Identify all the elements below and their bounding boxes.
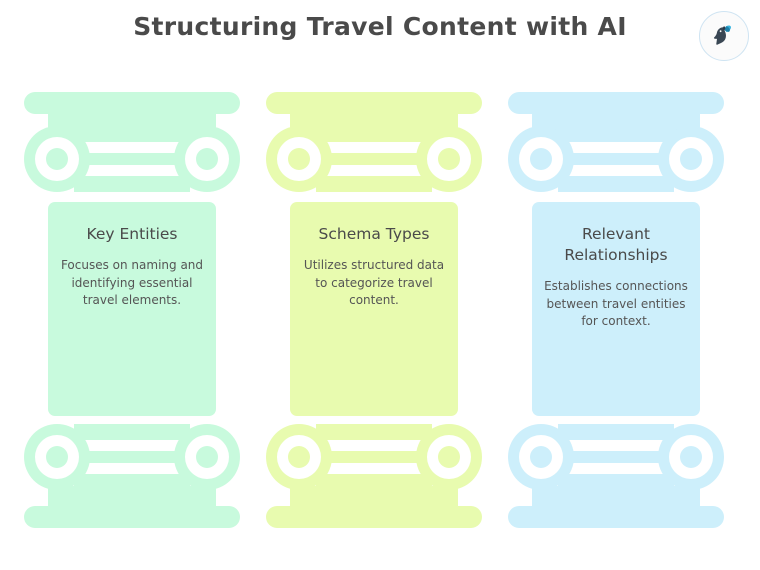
pillar-columns: Key Entities Focuses on naming and ident… [0, 0, 760, 570]
capital-bar [80, 451, 184, 463]
ring-dot [438, 446, 460, 468]
capital-ring-right [658, 126, 724, 192]
column-bottom-bar [24, 506, 240, 528]
column-top-bar [266, 92, 482, 114]
column-title: Key Entities [58, 224, 206, 245]
capital-ring-right [416, 126, 482, 192]
column-top-capital [24, 126, 240, 198]
ring-dot [680, 446, 702, 468]
capital-bar [80, 153, 184, 165]
column-top-capital [266, 126, 482, 198]
capital-ring-left [508, 424, 574, 490]
pillar-column-key-entities[interactable]: Key Entities Focuses on naming and ident… [24, 92, 240, 528]
pillar-column-relevant-relationships[interactable]: Relevant Relationships Establishes conne… [508, 92, 724, 528]
ring-dot [288, 148, 310, 170]
column-description: Focuses on naming and identifying essent… [58, 257, 206, 310]
ring-dot [46, 446, 68, 468]
column-body-panel: Key Entities Focuses on naming and ident… [48, 202, 216, 416]
ring-dot [438, 148, 460, 170]
capital-ring-left [266, 126, 332, 192]
capital-ring-right [174, 126, 240, 192]
pillar-column-schema-types[interactable]: Schema Types Utilizes structured data to… [266, 92, 482, 528]
column-bottom-block [48, 486, 216, 506]
ring-dot [196, 148, 218, 170]
column-top-bar [24, 92, 240, 114]
capital-bar [322, 451, 426, 463]
column-title: Schema Types [300, 224, 448, 245]
capital-ring-right [174, 424, 240, 490]
column-body-panel: Relevant Relationships Establishes conne… [532, 202, 700, 416]
capital-bar [322, 153, 426, 165]
ring-dot [530, 148, 552, 170]
ring-dot [680, 148, 702, 170]
capital-ring-left [24, 424, 90, 490]
ring-dot [530, 446, 552, 468]
column-bottom-block [290, 486, 458, 506]
column-description: Establishes connections between travel e… [542, 278, 690, 331]
column-top-bar [508, 92, 724, 114]
column-top-capital [508, 126, 724, 198]
column-description: Utilizes structured data to categorize t… [300, 257, 448, 310]
capital-ring-right [416, 424, 482, 490]
ring-dot [196, 446, 218, 468]
column-title: Relevant Relationships [542, 224, 690, 266]
capital-ring-left [508, 126, 574, 192]
capital-bar [564, 153, 668, 165]
column-body-panel: Schema Types Utilizes structured data to… [290, 202, 458, 416]
column-bottom-bar [266, 506, 482, 528]
column-bottom-bar [508, 506, 724, 528]
column-bottom-block [532, 486, 700, 506]
capital-ring-left [24, 126, 90, 192]
capital-ring-left [266, 424, 332, 490]
ring-dot [46, 148, 68, 170]
capital-bar [564, 451, 668, 463]
ring-dot [288, 446, 310, 468]
capital-ring-right [658, 424, 724, 490]
